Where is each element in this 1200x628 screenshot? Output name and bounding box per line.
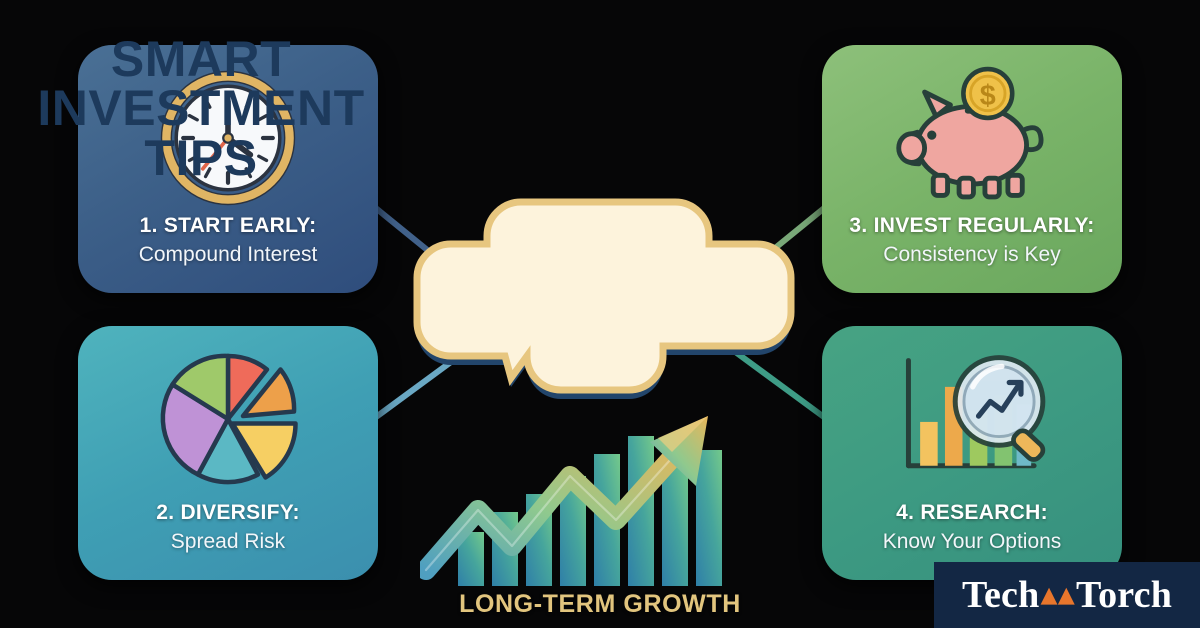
card-invest-regularly[interactable]: $ 3. INVEST REGULARLY: Consistency is Ke… [822, 45, 1122, 293]
magnifier-bar-chart-icon [888, 344, 1056, 494]
card-start-early[interactable]: 1. START EARLY: Compound Interest [78, 45, 378, 293]
card-diversify-text: 2. DIVERSIFY: Spread Risk [78, 501, 378, 554]
flame-icon: ▴▴ [1040, 578, 1075, 612]
card-invest-regularly-subtitle: Consistency is Key [832, 243, 1112, 267]
card-invest-regularly-text: 3. INVEST REGULARLY: Consistency is Key [822, 214, 1122, 267]
center-badge [399, 186, 801, 404]
card-diversify[interactable]: 2. DIVERSIFY: Spread Risk [78, 326, 378, 580]
card-diversify-title: 2. DIVERSIFY: [88, 501, 368, 525]
card-research[interactable]: 4. RESEARCH: Know Your Options [822, 326, 1122, 580]
card-research-title: 4. RESEARCH: [832, 501, 1112, 525]
card-start-early-text: 1. START EARLY: Compound Interest [78, 214, 378, 267]
card-start-early-subtitle: Compound Interest [88, 243, 368, 267]
clock-icon [158, 63, 298, 213]
logo-text-right: Torch [1076, 573, 1172, 617]
piggy-bank-icon: $ [893, 63, 1051, 213]
card-research-text: 4. RESEARCH: Know Your Options [822, 501, 1122, 554]
card-start-early-title: 1. START EARLY: [88, 214, 368, 238]
logo-text-left: Tech [962, 573, 1040, 617]
svg-text:$: $ [980, 80, 996, 112]
logo-text: Tech ▴▴ Torch [962, 573, 1172, 617]
card-invest-regularly-title: 3. INVEST REGULARLY: [832, 214, 1112, 238]
pie-chart-icon [153, 344, 303, 494]
growth-label: LONG-TERM GROWTH [380, 590, 820, 619]
rising-bar-chart-icon [420, 400, 780, 590]
infographic-canvas: 1. START EARLY: Compound Interest [0, 0, 1200, 628]
card-diversify-subtitle: Spread Risk [88, 530, 368, 554]
techtorch-logo: Tech ▴▴ Torch [934, 562, 1200, 628]
card-research-subtitle: Know Your Options [832, 530, 1112, 554]
